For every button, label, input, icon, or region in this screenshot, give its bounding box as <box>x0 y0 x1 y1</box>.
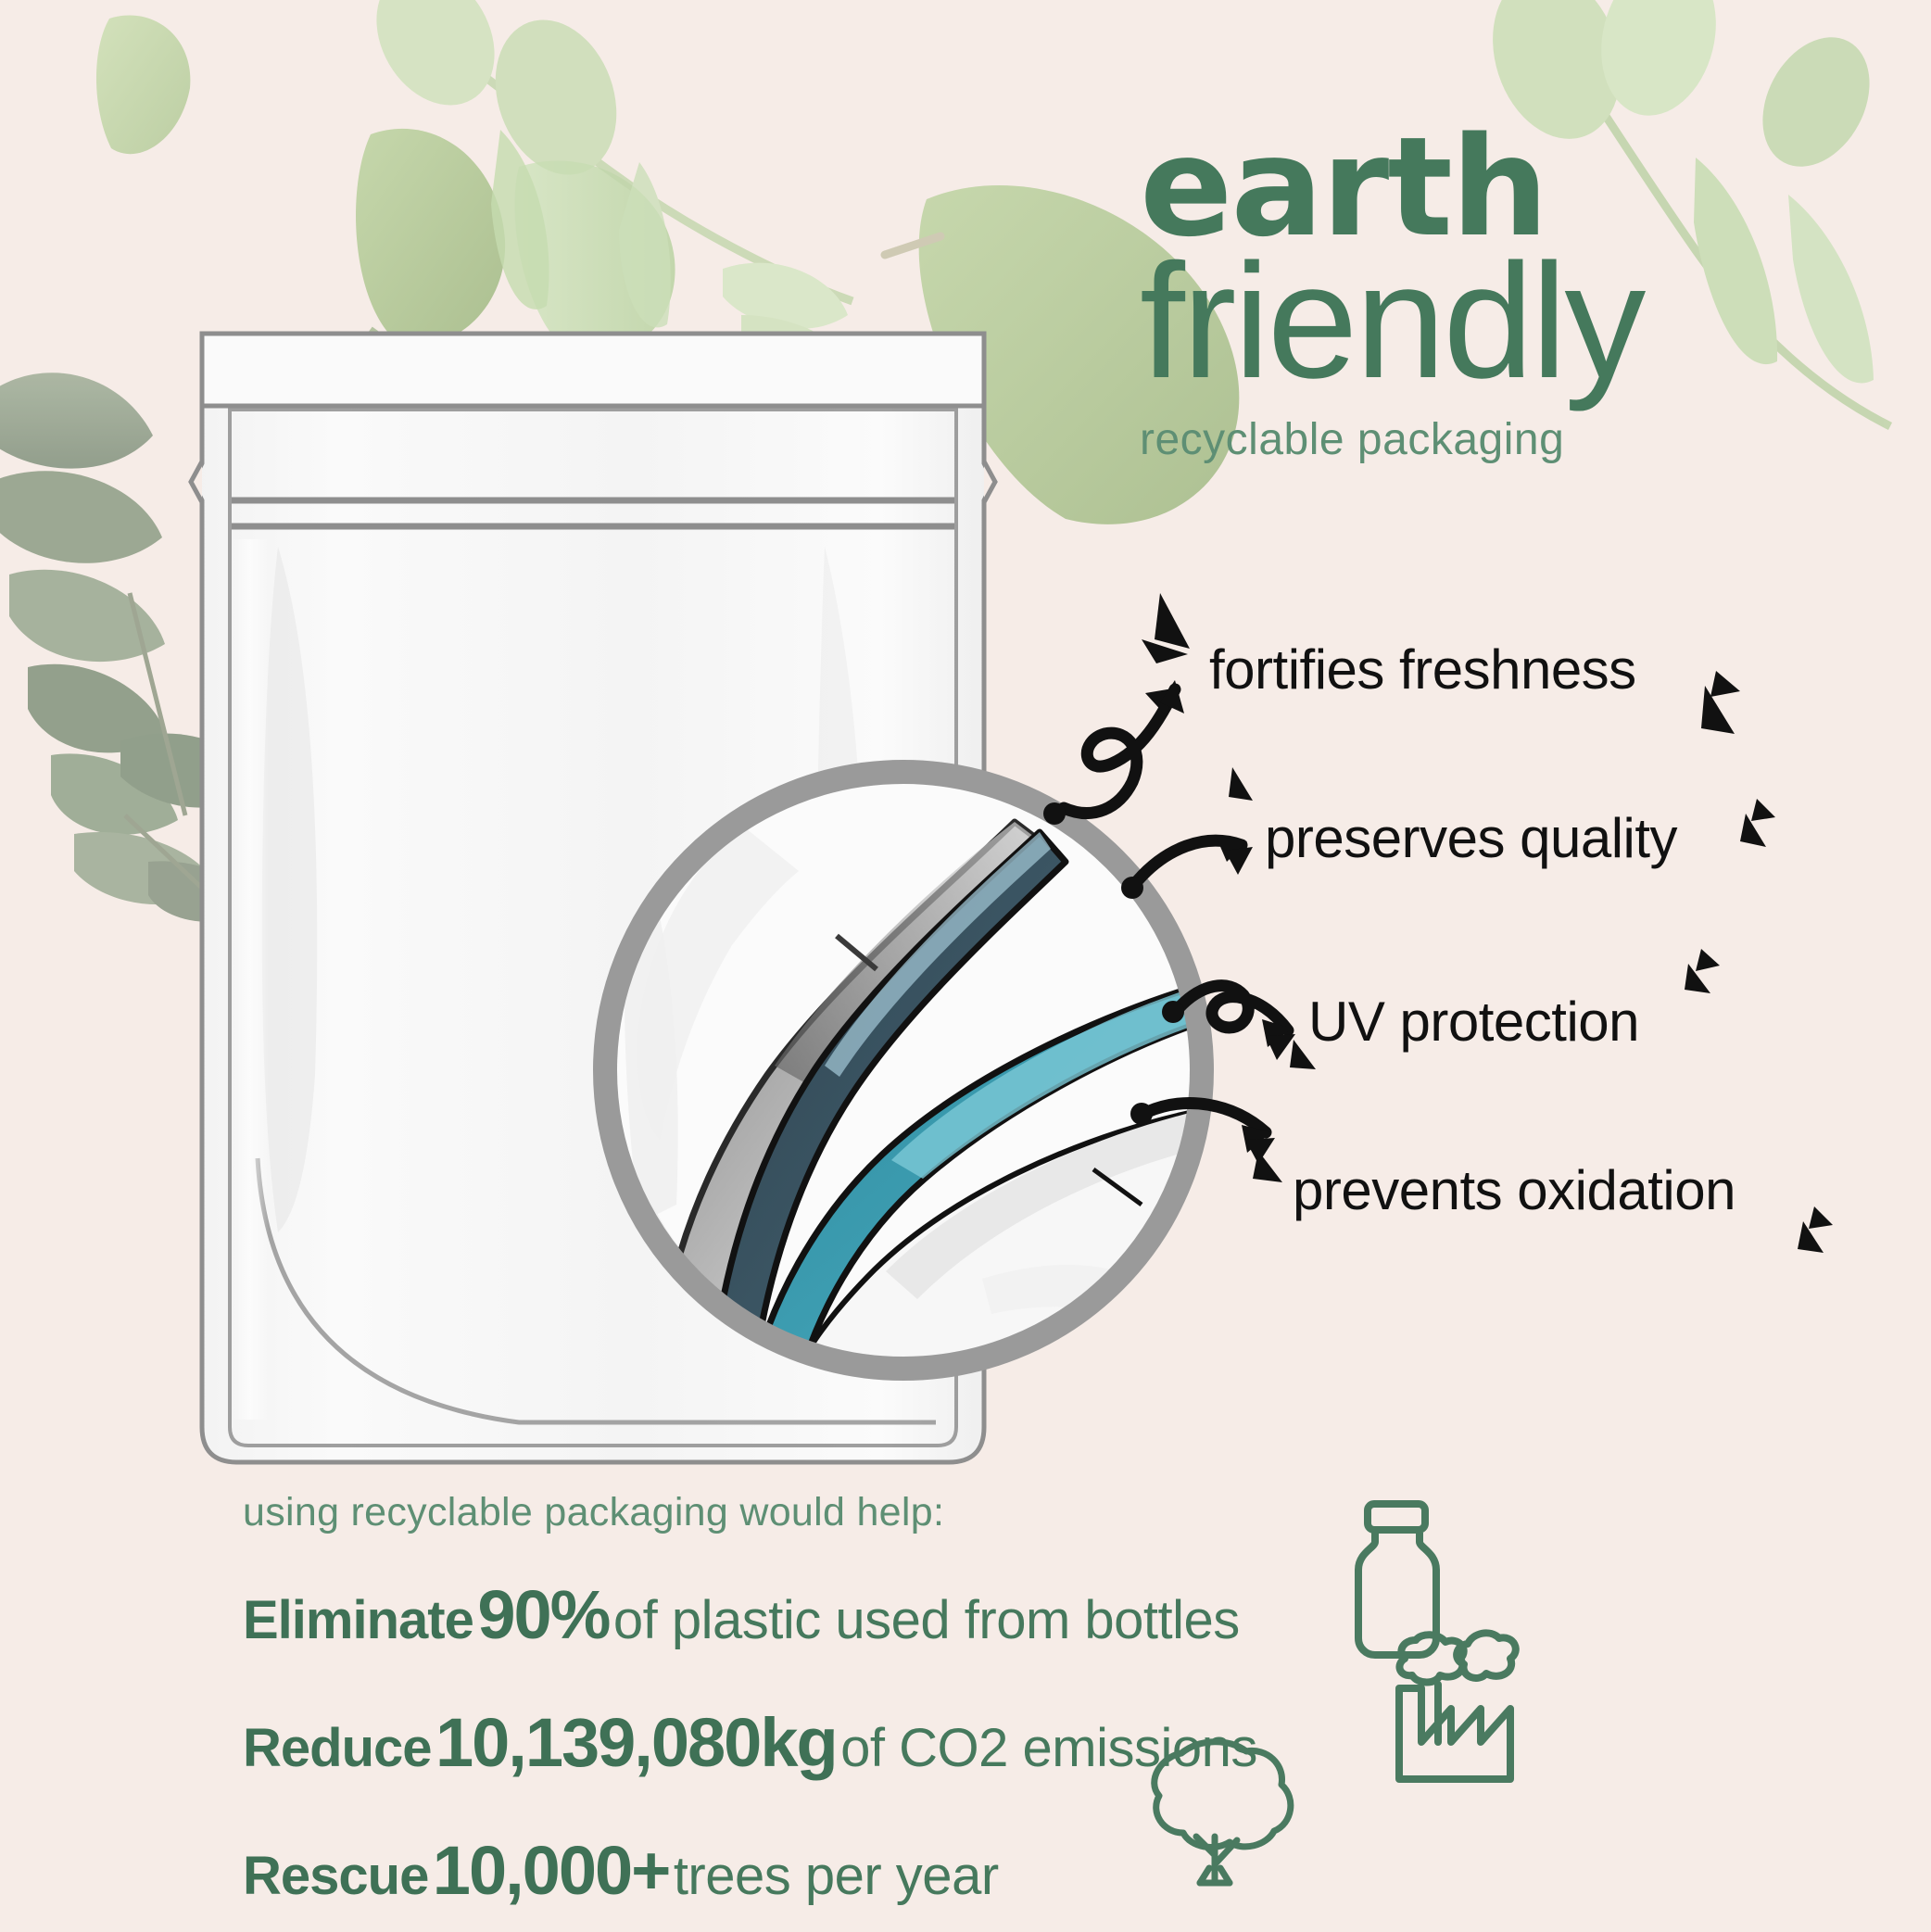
anchor-dot-1 <box>1043 802 1066 825</box>
stat-value-eliminate: 90% <box>477 1576 609 1653</box>
anchor-dot-3 <box>1162 1001 1184 1023</box>
feature-label-fortifies-freshness: fortifies freshness <box>1209 638 1636 701</box>
feature-label-uv-protection: UV protection <box>1308 990 1639 1054</box>
stat-verb-reduce: Reduce <box>243 1718 432 1778</box>
stat-row-rescue: Rescue 10,000+ trees per year <box>243 1831 999 1910</box>
stat-row-reduce: Reduce 10,139,080kg of CO2 emissions <box>243 1703 1257 1782</box>
stat-tail-rescue: trees per year <box>674 1846 999 1906</box>
stat-value-reduce: 10,139,080kg <box>435 1704 837 1781</box>
arrow-fortifies-freshness <box>1064 689 1175 813</box>
headline-line-2: friendly <box>1140 247 1899 398</box>
headline-block: earth friendly recyclable packaging <box>1140 122 1899 465</box>
stat-tail-eliminate: of plastic used from bottles <box>613 1590 1240 1650</box>
feature-label-prevents-oxidation: prevents oxidation <box>1293 1158 1735 1222</box>
tree-icon <box>1126 1733 1302 1895</box>
anchor-dot-4 <box>1130 1103 1153 1125</box>
stat-value-rescue: 10,000+ <box>433 1832 670 1909</box>
stat-verb-rescue: Rescue <box>243 1846 428 1906</box>
headline-subtitle: recyclable packaging <box>1140 414 1899 465</box>
infographic-canvas: earth friendly recyclable packaging fort… <box>0 0 1931 1932</box>
stat-row-eliminate: Eliminate 90% of plastic used from bottl… <box>243 1575 1240 1654</box>
stat-verb-eliminate: Eliminate <box>243 1590 473 1650</box>
stats-intro-text: using recyclable packaging would help: <box>243 1490 944 1535</box>
anchor-dot-2 <box>1121 877 1143 899</box>
factory-icon <box>1390 1631 1547 1784</box>
feature-label-preserves-quality: preserves quality <box>1265 806 1677 870</box>
